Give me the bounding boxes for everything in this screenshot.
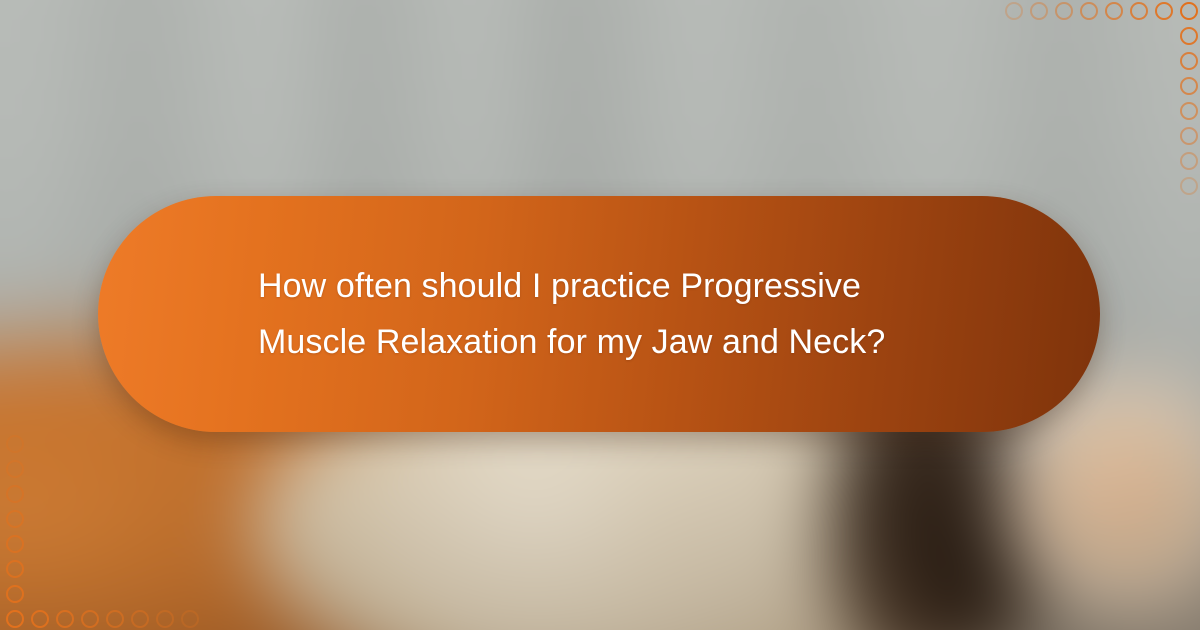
question-title: How often should I practice Progressive … bbox=[258, 258, 958, 370]
question-card-inner: How often should I practice Progressive … bbox=[98, 258, 1100, 370]
question-card[interactable]: How often should I practice Progressive … bbox=[98, 196, 1100, 432]
screenshot-stage: How often should I practice Progressive … bbox=[0, 0, 1200, 630]
question-line-1: How often should I practice Progressive bbox=[258, 267, 861, 305]
question-line-2: Muscle Relaxation for my Jaw and Neck? bbox=[258, 323, 885, 361]
